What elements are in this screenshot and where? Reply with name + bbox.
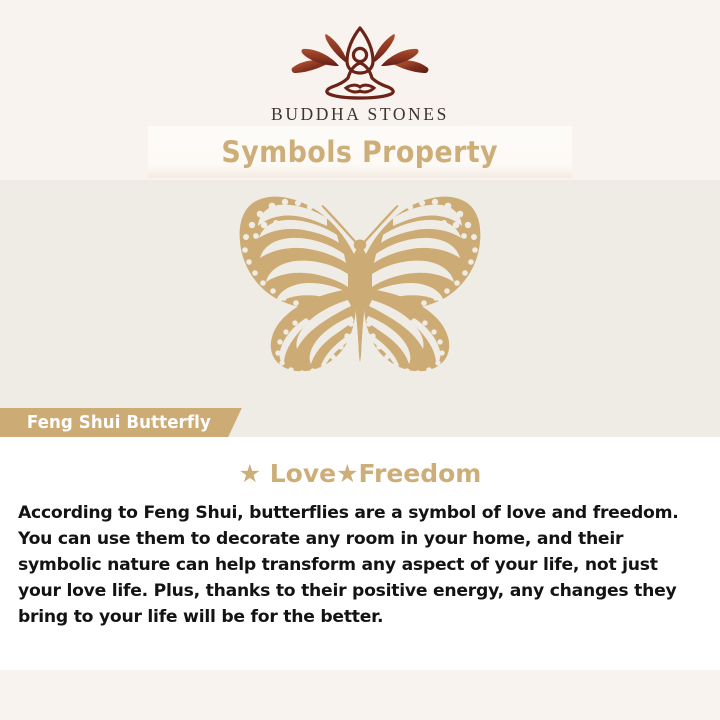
page-title: Symbols Property	[222, 135, 499, 169]
butterfly-icon	[196, 192, 524, 392]
bottom-fade-strip	[0, 670, 720, 720]
brand-name: BUDDHA STONES	[0, 104, 720, 125]
illustration-panel	[0, 180, 720, 437]
illustration-label-ribbon: Feng Shui Butterfly	[0, 408, 242, 438]
description-panel: ★ Love★Freedom According to Feng Shui, b…	[0, 437, 720, 670]
illustration-label-text: Feng Shui Butterfly	[27, 413, 211, 433]
product-info-card: BUDDHA STONES Symbols Property	[0, 0, 720, 720]
lotus-meditation-icon	[284, 24, 436, 102]
section-title-band: Symbols Property	[148, 126, 572, 178]
brand-logo: BUDDHA STONES	[0, 24, 720, 125]
tagline: ★ Love★Freedom	[0, 459, 720, 488]
description-body: According to Feng Shui, butterflies are …	[18, 500, 702, 630]
